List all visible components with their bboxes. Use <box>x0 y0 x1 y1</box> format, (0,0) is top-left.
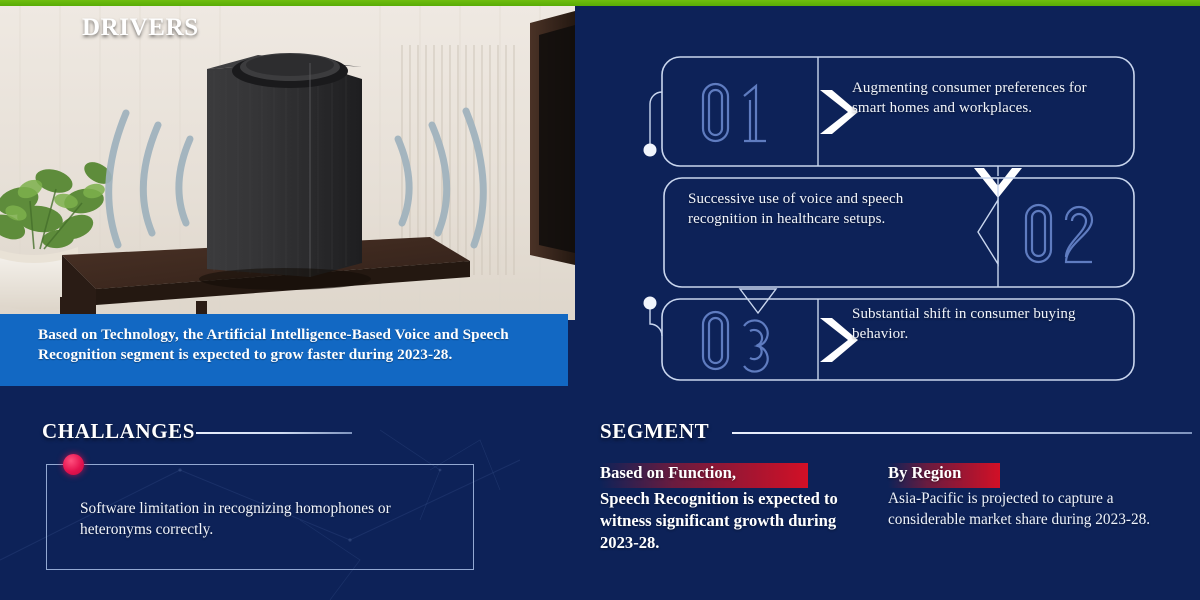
challenges-heading: CHALLANGES <box>42 419 195 444</box>
driver-number-01 <box>703 84 766 141</box>
segment-column-body: Asia-Pacific is projected to capture a c… <box>888 488 1178 530</box>
challenges-marker-dot-icon <box>63 454 84 475</box>
challenges-heading-rule <box>196 432 352 434</box>
segment-heading-rule <box>732 432 1192 434</box>
segment-column-heading: Based on Function, <box>600 462 736 484</box>
top-accent-bar <box>0 0 1200 6</box>
driver-text-03: Substantial shift in consumer buying beh… <box>852 305 1114 345</box>
challenges-item-text: Software limitation in recognizing homop… <box>80 498 440 541</box>
segment-heading: SEGMENT <box>600 419 709 444</box>
segment-column-body: Speech Recognition is expected to witnes… <box>600 488 862 554</box>
driver-text-01: Augmenting consumer preferences for smar… <box>852 79 1102 119</box>
segment-column-heading: By Region <box>888 462 961 484</box>
technology-caption-box: Based on Technology, the Artificial Inte… <box>0 314 568 386</box>
technology-caption-text: Based on Technology, the Artificial Inte… <box>0 314 568 365</box>
driver-number-02 <box>1026 205 1092 262</box>
driver-number-03 <box>703 312 768 372</box>
infographic-canvas: Based on Technology, the Artificial Inte… <box>0 0 1200 600</box>
segment-column-region: By Region Asia-Pacific is projected to c… <box>888 462 1178 530</box>
driver-text-02: Successive use of voice and speech recog… <box>688 190 938 230</box>
segment-column-function: Based on Function, Speech Recognition is… <box>600 462 862 554</box>
